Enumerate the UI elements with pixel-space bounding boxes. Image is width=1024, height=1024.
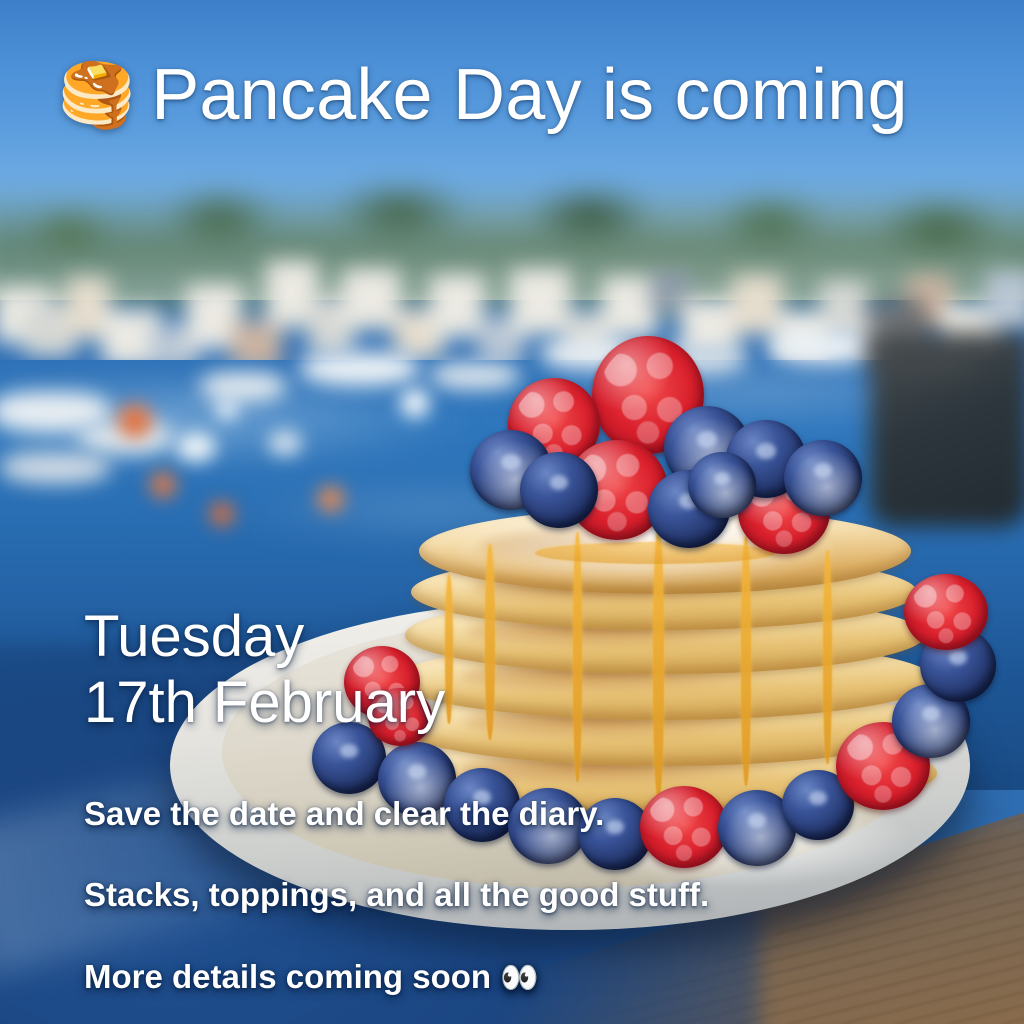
raspberry-ring-right-2 xyxy=(904,574,988,650)
event-date: 17th February xyxy=(84,670,844,736)
blueberry-top-7 xyxy=(688,452,756,518)
poster-header: 🥞 Pancake Day is coming xyxy=(58,58,1018,134)
event-day-of-week: Tuesday xyxy=(84,604,844,670)
page-title: Pancake Day is coming xyxy=(151,58,908,134)
blueberry-top-2 xyxy=(520,452,598,528)
syrup-pool xyxy=(535,542,775,564)
more-details-text: More details coming soon xyxy=(84,958,491,995)
body-line-more-details: More details coming soon 👀 xyxy=(84,956,844,998)
blueberry-top-5 xyxy=(784,440,862,516)
body-line-stacks-toppings: Stacks, toppings, and all the good stuff… xyxy=(84,874,844,915)
pancake-day-poster: 🥞 Pancake Day is coming Tuesday 17th Feb… xyxy=(0,0,1024,1024)
pancakes-emoji: 🥞 xyxy=(58,65,135,127)
event-details: Tuesday 17th February Save the date and … xyxy=(84,604,844,997)
body-line-save-the-date: Save the date and clear the diary. xyxy=(84,793,844,834)
eyes-emoji: 👀 xyxy=(500,960,539,995)
